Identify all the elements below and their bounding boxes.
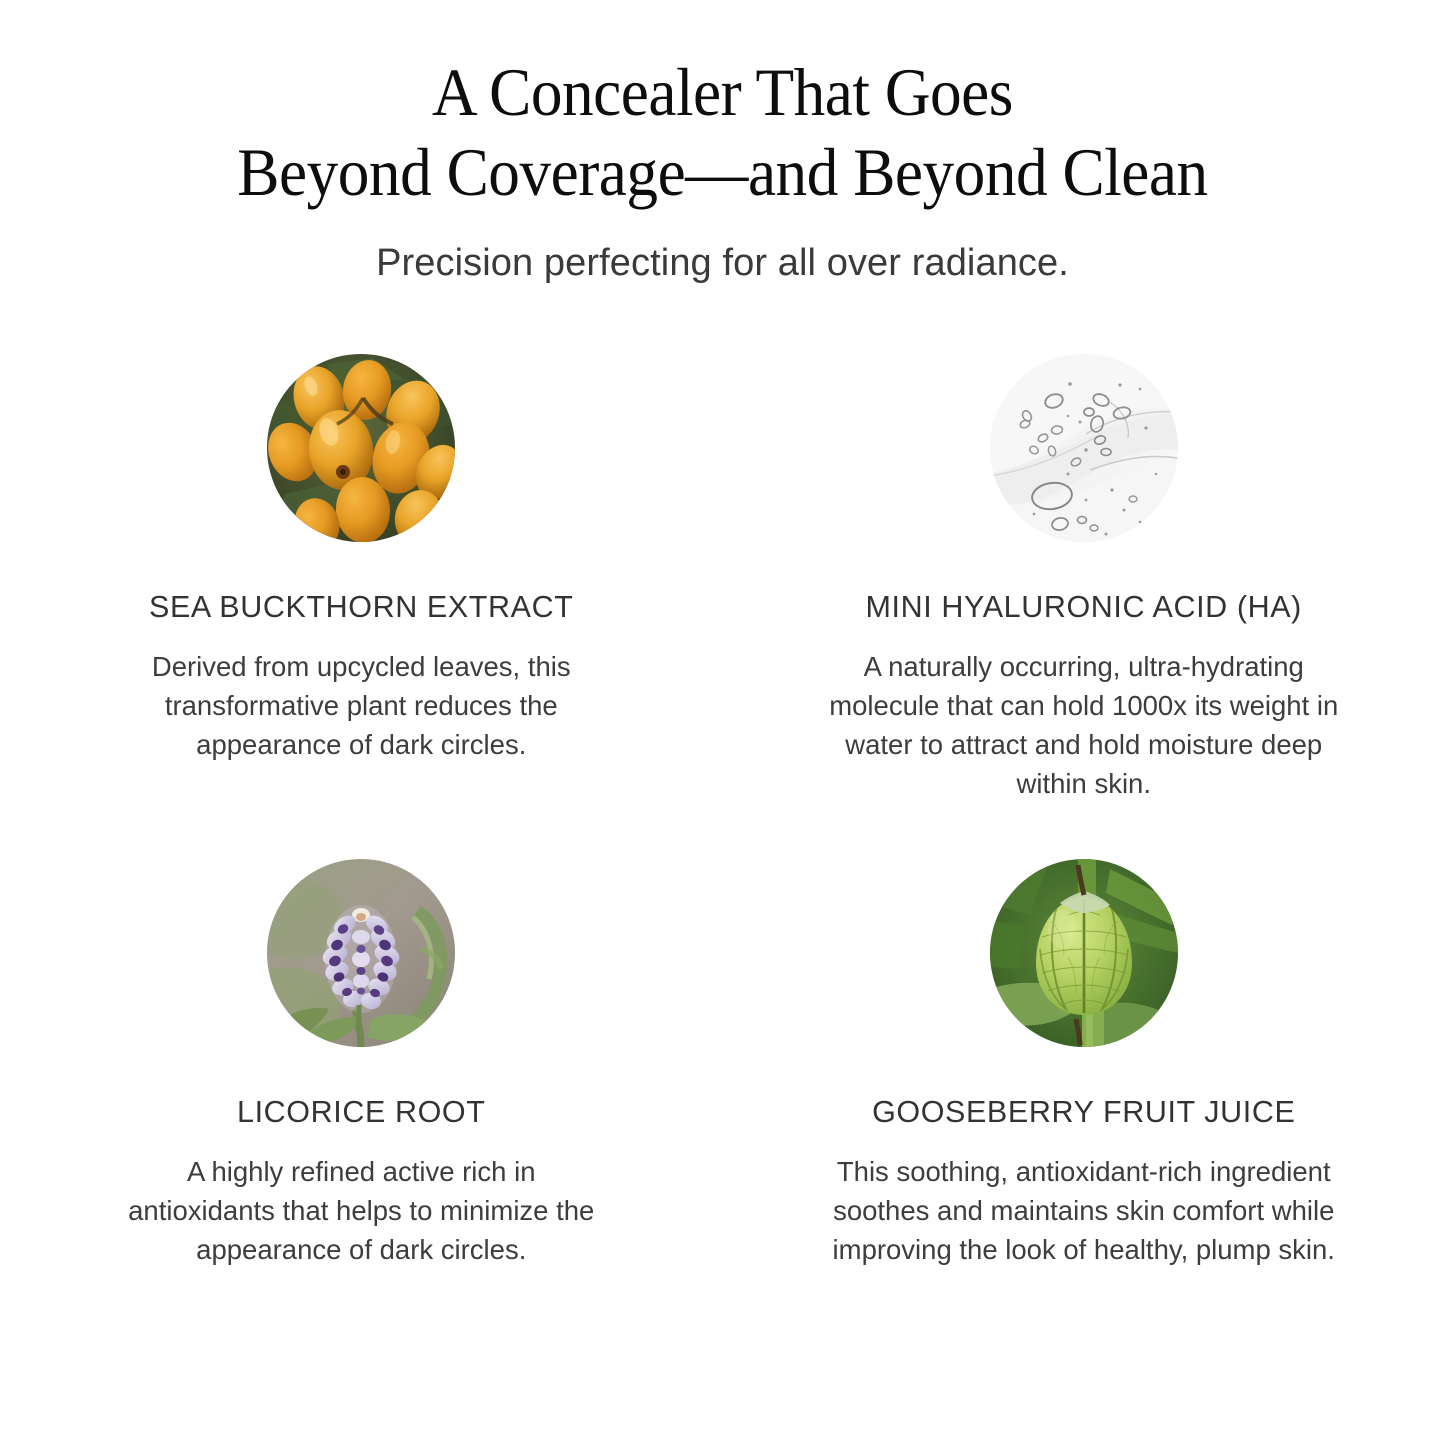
ingredient-card-hyaluronic-acid: MINI HYALURONIC ACID (HA) A naturally oc… — [723, 354, 1445, 803]
page-subtitle: Precision perfecting for all over radian… — [0, 240, 1445, 288]
ingredient-description: This soothing, antioxidant-rich ingredie… — [816, 1152, 1351, 1269]
ingredient-card-sea-buckthorn: SEA BUCKTHORN EXTRACT Derived from upcyc… — [0, 354, 723, 803]
ingredient-card-gooseberry: GOOSEBERRY FRUIT JUICE This soothing, an… — [723, 859, 1445, 1269]
gooseberry-fruit-husk-photo — [990, 859, 1178, 1047]
page-title-line-2: Beyond Coverage—and Beyond Clean — [51, 132, 1395, 212]
ingredient-title: GOOSEBERRY FRUIT JUICE — [872, 1095, 1295, 1130]
licorice-root-flower-photo — [267, 859, 455, 1047]
ingredients-grid: SEA BUCKTHORN EXTRACT Derived from upcyc… — [0, 354, 1445, 1269]
ingredient-title: MINI HYALURONIC ACID (HA) — [866, 590, 1302, 625]
ingredient-description: A naturally occurring, ultra-hydrating m… — [816, 647, 1351, 803]
page-header: A Concealer That Goes Beyond Coverage—an… — [0, 0, 1445, 288]
ingredient-description: Derived from upcycled leaves, this trans… — [126, 647, 596, 764]
page-title: A Concealer That Goes Beyond Coverage—an… — [51, 52, 1395, 212]
ingredient-description: A highly refined active rich in antioxid… — [126, 1152, 596, 1269]
ingredient-title: LICORICE ROOT — [237, 1095, 485, 1130]
ingredient-card-licorice-root: LICORICE ROOT A highly refined active ri… — [0, 859, 723, 1269]
ingredient-benefits-page: A Concealer That Goes Beyond Coverage—an… — [0, 0, 1445, 1445]
ingredient-title: SEA BUCKTHORN EXTRACT — [149, 590, 573, 625]
sea-buckthorn-berries-photo — [267, 354, 455, 542]
page-title-line-1: A Concealer That Goes — [51, 52, 1395, 132]
hyaluronic-acid-gel-texture-photo — [990, 354, 1178, 542]
